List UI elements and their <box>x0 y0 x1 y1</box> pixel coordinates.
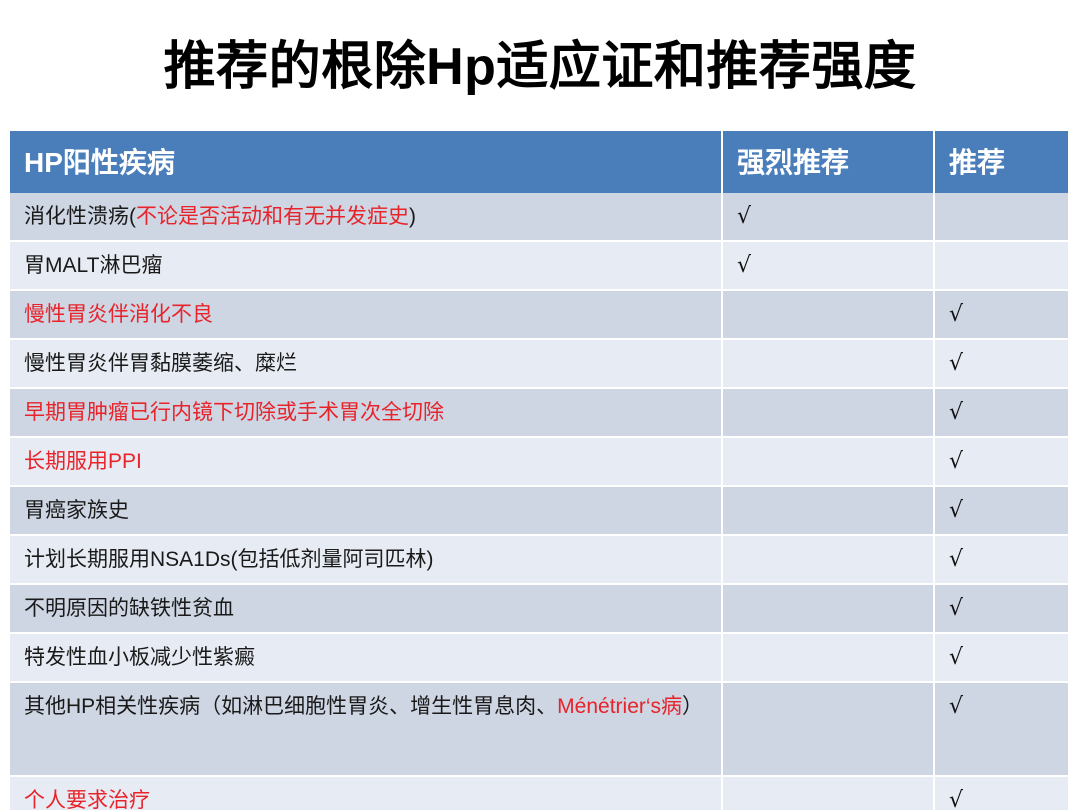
disease-label: 早期胃肿瘤已行内镜下切除或手术胃次全切除 <box>24 398 721 427</box>
cell-strong-recommendation: √ <box>723 193 935 242</box>
disease-label: 胃MALT淋巴瘤 <box>24 251 721 280</box>
disease-label: 特发性血小板减少性紫癜 <box>24 643 721 672</box>
disease-text-segment: 不明原因的缺铁性贫血 <box>24 597 234 620</box>
cell-strong-recommendation <box>723 683 935 777</box>
disease-text-segment: 胃MALT淋巴瘤 <box>24 254 162 277</box>
table-row: 长期服用PPI√ <box>10 438 1068 487</box>
cell-strong-recommendation <box>723 389 935 438</box>
cell-disease: 胃MALT淋巴瘤 <box>10 242 723 291</box>
disease-text-segment: 其他HP相关性疾病（如淋巴细胞性胃炎、增生性胃息肉、 <box>24 695 557 718</box>
disease-label: 慢性胃炎伴胃黏膜萎缩、糜烂 <box>24 349 721 378</box>
cell-strong-recommendation <box>723 536 935 585</box>
disease-label: 个人要求治疗 <box>24 786 721 810</box>
cell-recommendation: √ <box>935 585 1068 634</box>
disease-text-segment: 长期服用PPI <box>24 450 142 473</box>
cell-strong-recommendation <box>723 340 935 389</box>
cell-recommendation <box>935 242 1068 291</box>
table-row: 胃癌家族史√ <box>10 487 1068 536</box>
disease-text-segment: 早期胃肿瘤已行内镜下切除或手术胃次全切除 <box>24 401 444 424</box>
cell-recommendation <box>935 193 1068 242</box>
table-row: 慢性胃炎伴胃黏膜萎缩、糜烂√ <box>10 340 1068 389</box>
cell-strong-recommendation: √ <box>723 242 935 291</box>
cell-disease: 个人要求治疗 <box>10 777 723 810</box>
cell-disease: 不明原因的缺铁性贫血 <box>10 585 723 634</box>
cell-strong-recommendation <box>723 585 935 634</box>
table-row: 个人要求治疗√ <box>10 777 1068 810</box>
table-header-row: HP阳性疾病 强烈推荐 推荐 <box>10 131 1068 193</box>
cell-disease: 慢性胃炎伴胃黏膜萎缩、糜烂 <box>10 340 723 389</box>
cell-disease: 慢性胃炎伴消化不良 <box>10 291 723 340</box>
table-row: 不明原因的缺铁性贫血√ <box>10 585 1068 634</box>
cell-disease: 胃癌家族史 <box>10 487 723 536</box>
page-title: 推荐的根除Hp适应证和推荐强度 <box>0 36 1080 98</box>
disease-text-segment: 慢性胃炎伴胃黏膜萎缩、糜烂 <box>24 352 297 375</box>
table-row: 其他HP相关性疾病（如淋巴细胞性胃炎、增生性胃息肉、Ménétrier‘s病）√ <box>10 683 1068 777</box>
disease-label: 消化性溃疡(不论是否活动和有无并发症史) <box>24 202 721 231</box>
cell-disease: 长期服用PPI <box>10 438 723 487</box>
slide-root: 推荐的根除Hp适应证和推荐强度 HP阳性疾病 强烈推荐 推荐 消化性溃疡(不论是… <box>0 0 1080 810</box>
disease-text-segment: ） <box>682 695 703 718</box>
indications-table-container: HP阳性疾病 强烈推荐 推荐 消化性溃疡(不论是否活动和有无并发症史)√胃MAL… <box>10 131 1068 810</box>
cell-disease: 消化性溃疡(不论是否活动和有无并发症史) <box>10 193 723 242</box>
cell-recommendation: √ <box>935 487 1068 536</box>
cell-recommendation: √ <box>935 438 1068 487</box>
column-header-strong-recommendation: 强烈推荐 <box>723 131 935 193</box>
cell-recommendation: √ <box>935 777 1068 810</box>
table-header: HP阳性疾病 强烈推荐 推荐 <box>10 131 1068 193</box>
table-body: 消化性溃疡(不论是否活动和有无并发症史)√胃MALT淋巴瘤√慢性胃炎伴消化不良√… <box>10 193 1068 810</box>
disease-label: 计划长期服用NSA1Ds(包括低剂量阿司匹林) <box>24 545 721 574</box>
disease-text-segment: Ménétrier‘s病 <box>557 695 682 718</box>
disease-label: 胃癌家族史 <box>24 496 721 525</box>
disease-text-segment: ) <box>409 205 416 228</box>
cell-recommendation: √ <box>935 634 1068 683</box>
disease-label: 其他HP相关性疾病（如淋巴细胞性胃炎、增生性胃息肉、Ménétrier‘s病） <box>24 692 721 721</box>
cell-recommendation: √ <box>935 340 1068 389</box>
column-header-recommendation: 推荐 <box>935 131 1068 193</box>
cell-recommendation: √ <box>935 291 1068 340</box>
disease-text-segment: 胃癌家族史 <box>24 499 129 522</box>
cell-disease: 特发性血小板减少性紫癜 <box>10 634 723 683</box>
disease-text-segment: 计划长期服用NSA1Ds(包括低剂量阿司匹林) <box>24 548 434 571</box>
disease-text-segment: 慢性胃炎伴消化不良 <box>24 303 213 326</box>
cell-strong-recommendation <box>723 634 935 683</box>
disease-label: 长期服用PPI <box>24 447 721 476</box>
cell-strong-recommendation <box>723 777 935 810</box>
disease-text-segment: 特发性血小板减少性紫癜 <box>24 646 255 669</box>
cell-recommendation: √ <box>935 683 1068 777</box>
table-row: 早期胃肿瘤已行内镜下切除或手术胃次全切除√ <box>10 389 1068 438</box>
disease-label: 不明原因的缺铁性贫血 <box>24 594 721 623</box>
disease-text-segment: 个人要求治疗 <box>24 789 150 810</box>
cell-recommendation: √ <box>935 389 1068 438</box>
table-row: 消化性溃疡(不论是否活动和有无并发症史)√ <box>10 193 1068 242</box>
table-row: 特发性血小板减少性紫癜√ <box>10 634 1068 683</box>
disease-text-segment: 不论是否活动和有无并发症史 <box>136 205 409 228</box>
disease-text-segment: 消化性溃疡( <box>24 205 136 228</box>
indications-table: HP阳性疾病 强烈推荐 推荐 消化性溃疡(不论是否活动和有无并发症史)√胃MAL… <box>10 131 1068 810</box>
table-row: 慢性胃炎伴消化不良√ <box>10 291 1068 340</box>
table-row: 计划长期服用NSA1Ds(包括低剂量阿司匹林)√ <box>10 536 1068 585</box>
disease-label: 慢性胃炎伴消化不良 <box>24 300 721 329</box>
cell-strong-recommendation <box>723 438 935 487</box>
cell-disease: 早期胃肿瘤已行内镜下切除或手术胃次全切除 <box>10 389 723 438</box>
cell-strong-recommendation <box>723 487 935 536</box>
cell-recommendation: √ <box>935 536 1068 585</box>
cell-disease: 计划长期服用NSA1Ds(包括低剂量阿司匹林) <box>10 536 723 585</box>
cell-disease: 其他HP相关性疾病（如淋巴细胞性胃炎、增生性胃息肉、Ménétrier‘s病） <box>10 683 723 777</box>
column-header-disease: HP阳性疾病 <box>10 131 723 193</box>
cell-strong-recommendation <box>723 291 935 340</box>
table-row: 胃MALT淋巴瘤√ <box>10 242 1068 291</box>
